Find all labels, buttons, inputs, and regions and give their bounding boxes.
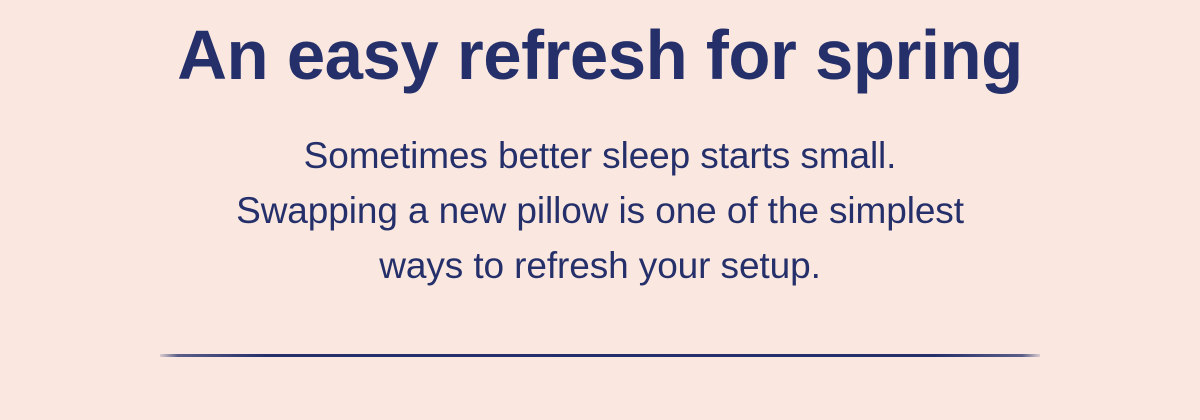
promo-banner: An easy refresh for spring Sometimes bet… — [0, 0, 1200, 420]
section-divider — [160, 354, 1040, 357]
subcopy-line: Sometimes better sleep starts small. — [0, 128, 1200, 183]
subcopy-line: ways to refresh your setup. — [0, 238, 1200, 293]
divider-container — [0, 345, 1200, 365]
promo-subcopy: Sometimes better sleep starts small. Swa… — [0, 128, 1200, 293]
page-title: An easy refresh for spring — [9, 12, 1191, 98]
subcopy-line: Swapping a new pillow is one of the simp… — [0, 183, 1200, 238]
